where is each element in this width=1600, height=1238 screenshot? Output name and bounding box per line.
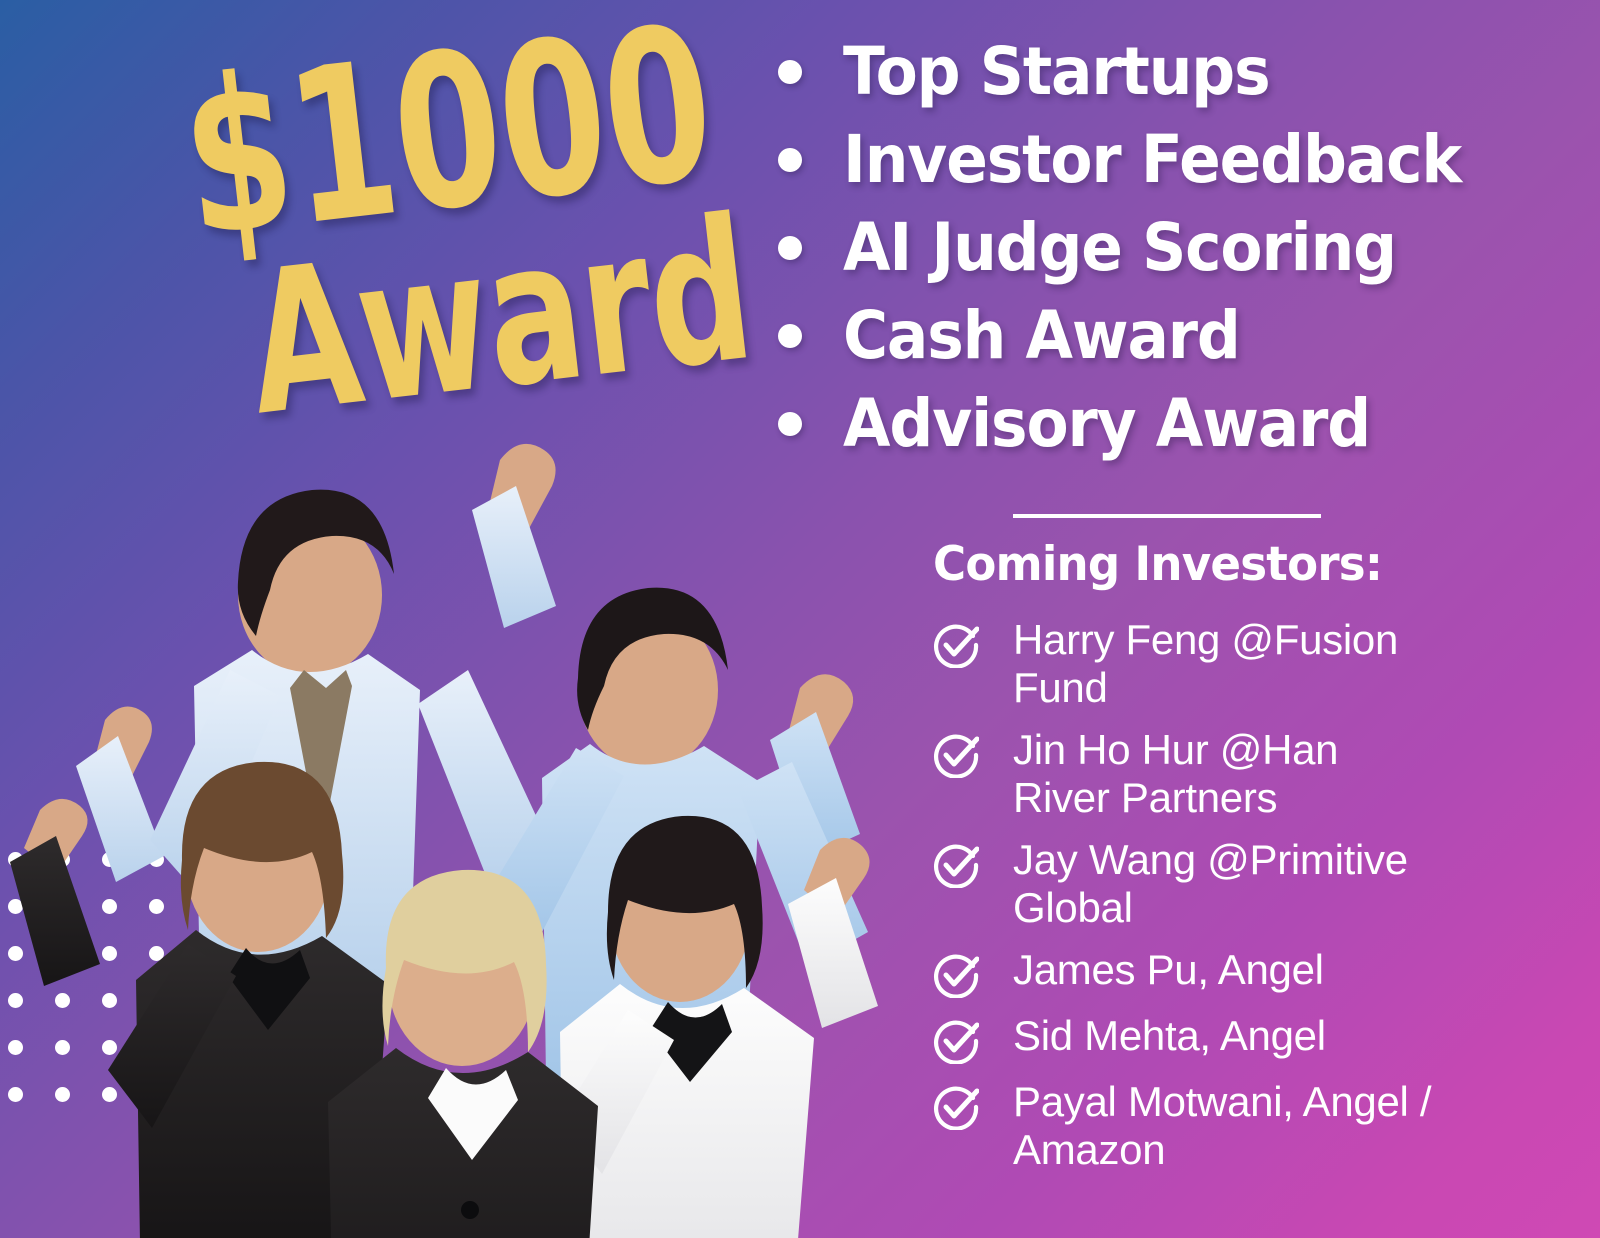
investor-name: Sid Mehta, Angel xyxy=(1013,1012,1326,1060)
grid-dot xyxy=(102,1087,117,1102)
feature-label: Top Startups xyxy=(843,32,1270,112)
feature-item: Investor Feedback xyxy=(778,120,1578,208)
investor-item: James Pu, Angel xyxy=(933,946,1573,998)
investor-item: Jin Ho Hur @Han River Partners xyxy=(933,726,1573,822)
bullet-icon xyxy=(778,236,802,260)
grid-dot xyxy=(8,1040,23,1055)
investor-name: Jin Ho Hur @Han River Partners xyxy=(1013,726,1443,822)
feature-label: Cash Award xyxy=(843,296,1240,376)
grid-dot xyxy=(102,899,117,914)
cheering-team-photo xyxy=(0,420,900,1238)
check-circle-icon xyxy=(933,1084,979,1130)
grid-dot xyxy=(149,946,164,961)
grid-dot xyxy=(102,946,117,961)
grid-dot xyxy=(149,1087,164,1102)
check-circle-icon xyxy=(933,952,979,998)
grid-dot xyxy=(8,993,23,1008)
feature-label: Investor Feedback xyxy=(843,120,1461,200)
investors-heading: Coming Investors: xyxy=(933,536,1547,594)
bullet-icon xyxy=(778,148,802,172)
check-circle-icon xyxy=(933,1018,979,1064)
feature-item: Cash Award xyxy=(778,296,1578,384)
promo-poster: $1000 Award xyxy=(0,0,1600,1238)
bullet-icon xyxy=(778,324,802,348)
investor-item: Sid Mehta, Angel xyxy=(933,1012,1573,1064)
grid-dot xyxy=(8,852,23,867)
section-divider xyxy=(1013,514,1321,518)
check-circle-icon xyxy=(933,732,979,778)
feature-item: Advisory Award xyxy=(778,384,1578,472)
feature-item: Top Startups xyxy=(778,32,1578,120)
grid-dot xyxy=(55,852,70,867)
grid-dot xyxy=(149,993,164,1008)
investor-name: Jay Wang @Primitive Global xyxy=(1013,836,1443,932)
feature-item: AI Judge Scoring xyxy=(778,208,1578,296)
feature-list: Top Startups Investor Feedback AI Judge … xyxy=(778,32,1578,472)
grid-dot xyxy=(55,946,70,961)
grid-dot xyxy=(55,993,70,1008)
grid-dot xyxy=(102,993,117,1008)
investors-section: Coming Investors: Harry Feng @Fusion Fun… xyxy=(933,536,1573,1188)
investor-item: Jay Wang @Primitive Global xyxy=(933,836,1573,932)
investor-item: Harry Feng @Fusion Fund xyxy=(933,616,1573,712)
grid-dot xyxy=(8,946,23,961)
investor-list: Harry Feng @Fusion Fund Jin Ho Hur @Han … xyxy=(933,616,1573,1174)
investor-name: Payal Motwani, Angel / Amazon xyxy=(1013,1078,1443,1174)
check-circle-icon xyxy=(933,622,979,668)
bullet-icon xyxy=(778,412,802,436)
check-circle-icon xyxy=(933,842,979,888)
grid-dot xyxy=(149,1040,164,1055)
grid-dot xyxy=(102,1040,117,1055)
investor-name: Harry Feng @Fusion Fund xyxy=(1013,616,1443,712)
grid-dot xyxy=(102,852,117,867)
grid-dot xyxy=(55,1040,70,1055)
bullet-icon xyxy=(778,60,802,84)
grid-dot xyxy=(8,1087,23,1102)
dot-grid-decoration xyxy=(8,852,218,1102)
feature-label: Advisory Award xyxy=(843,384,1370,464)
grid-dot xyxy=(55,899,70,914)
grid-dot xyxy=(149,852,164,867)
feature-label: AI Judge Scoring xyxy=(843,208,1396,288)
grid-dot xyxy=(8,899,23,914)
investor-name: James Pu, Angel xyxy=(1013,946,1324,994)
grid-dot xyxy=(149,899,164,914)
award-headline: $1000 Award xyxy=(175,21,644,436)
award-word-text: Award xyxy=(241,229,537,432)
grid-dot xyxy=(55,1087,70,1102)
investor-item: Payal Motwani, Angel / Amazon xyxy=(933,1078,1573,1174)
